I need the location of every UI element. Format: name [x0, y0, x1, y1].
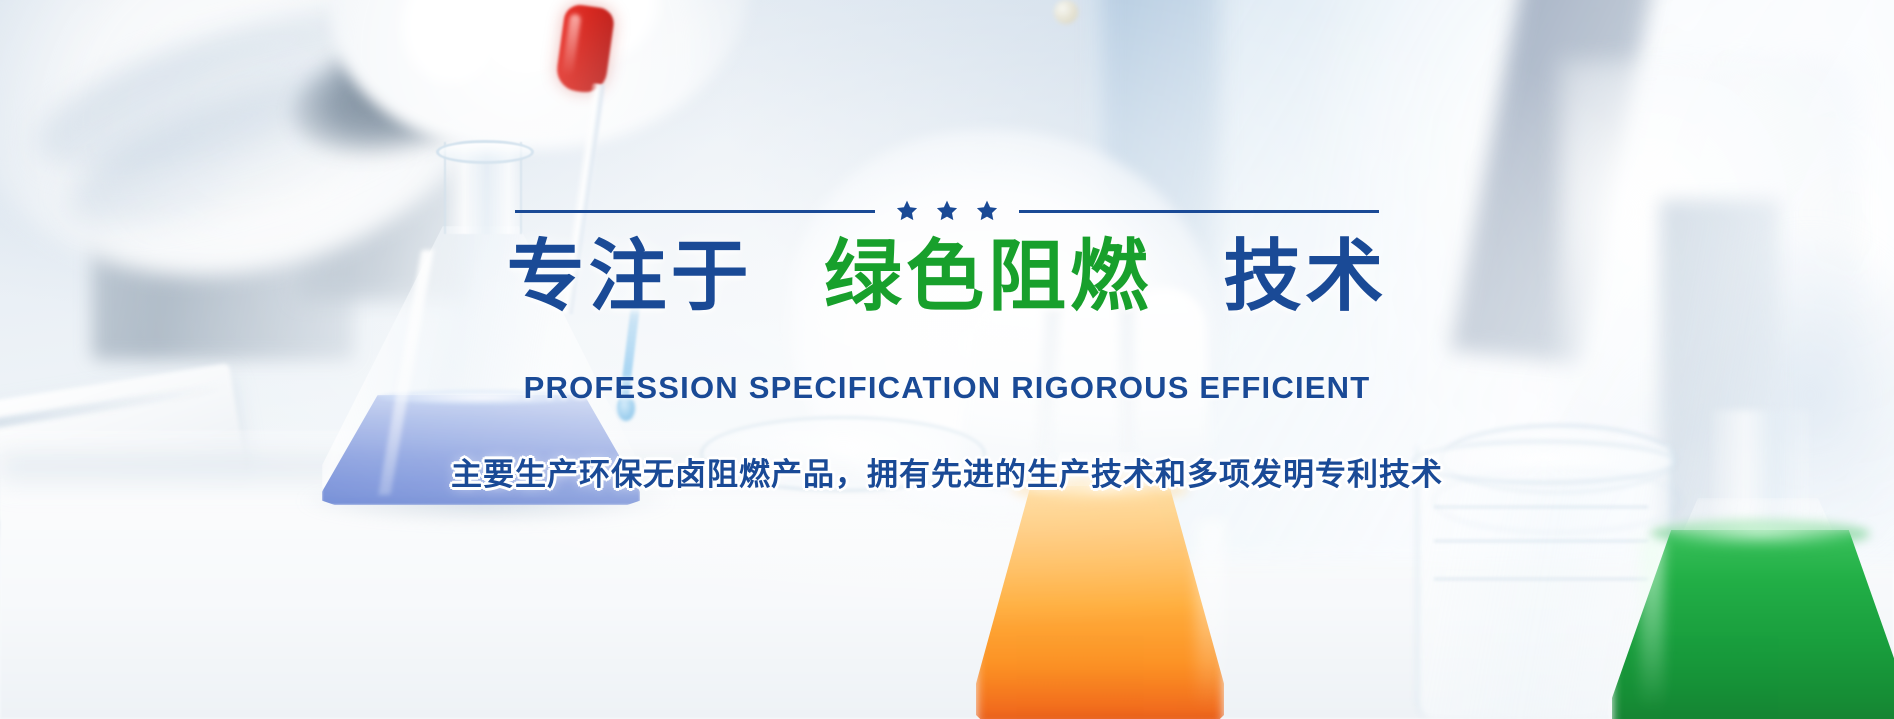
star-group: [895, 199, 999, 223]
star-icon: [975, 199, 999, 223]
banner-tagline: 主要生产环保无卤阻燃产品，拥有先进的生产技术和多项发明专利技术: [0, 449, 1894, 494]
title-part-3: 技术: [1223, 232, 1387, 320]
decorative-rule: [0, 196, 1894, 226]
hero-banner: 专注于 绿色阻燃 技术 PROFESSION SPECIFICATION RIG…: [0, 0, 1894, 719]
star-icon: [935, 199, 959, 223]
banner-subtitle: PROFESSION SPECIFICATION RIGOROUS EFFICI…: [0, 370, 1894, 406]
title-part-2: 绿色阻燃: [824, 232, 1152, 320]
banner-content: 专注于 绿色阻燃 技术 PROFESSION SPECIFICATION RIG…: [0, 196, 1894, 494]
title-part-1: 专注于: [507, 232, 753, 320]
star-icon: [895, 199, 919, 223]
rule-line-right: [1019, 210, 1379, 213]
banner-title: 专注于 绿色阻燃 技术: [0, 234, 1894, 318]
rule-line-left: [515, 210, 875, 213]
